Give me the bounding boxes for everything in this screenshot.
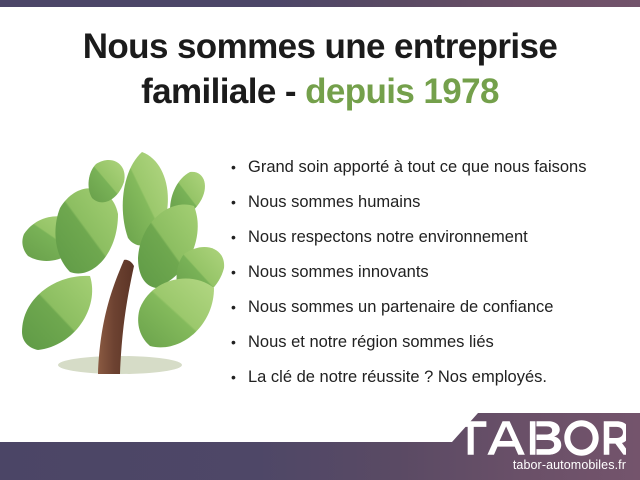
slide-canvas: Nous sommes une entreprise familiale - d…	[0, 0, 640, 480]
list-item-label: La clé de notre réussite ? Nos employés.	[248, 368, 547, 386]
page-title: Nous sommes une entreprise familiale - d…	[0, 24, 640, 114]
list-item-label: Nous respectons notre environnement	[248, 228, 528, 246]
headline-accent-year: depuis 1978	[305, 72, 499, 111]
tree-leaf-small-top-left	[89, 160, 125, 202]
tree-leaf-lower-left	[22, 276, 92, 350]
headline-line-2-prefix: familiale -	[141, 72, 305, 111]
tree-illustration	[8, 148, 234, 388]
list-item: Nous respectons notre environnement	[231, 220, 631, 255]
list-item-label: Nous sommes humains	[248, 193, 420, 211]
list-item-label: Nous et notre région sommes liés	[248, 333, 494, 351]
list-item-label: Nous sommes innovants	[248, 263, 429, 281]
footer-shape	[0, 413, 640, 480]
headline-line-1: Nous sommes une entreprise	[83, 27, 558, 66]
tree-leaf-lower-right	[138, 278, 214, 347]
list-item: Nous sommes innovants	[231, 255, 631, 290]
top-accent-bar	[0, 0, 640, 7]
list-item: Nous sommes humains	[231, 185, 631, 220]
list-item-label: Nous sommes un partenaire de confiance	[248, 298, 553, 316]
benefits-list: Grand soin apporté à tout ce que nous fa…	[231, 150, 631, 395]
list-item: Nous sommes un partenaire de confiance	[231, 290, 631, 325]
list-item: La clé de notre réussite ? Nos employés.	[231, 360, 631, 395]
tree-leaf-upper-left	[55, 188, 118, 273]
headline-line-2: familiale - depuis 1978	[0, 69, 640, 114]
list-item: Grand soin apporté à tout ce que nous fa…	[231, 150, 631, 185]
list-item-label: Grand soin apporté à tout ce que nous fa…	[248, 158, 586, 176]
footer-bar: tabor-automobiles.fr	[0, 404, 640, 480]
list-item: Nous et notre région sommes liés	[231, 325, 631, 360]
